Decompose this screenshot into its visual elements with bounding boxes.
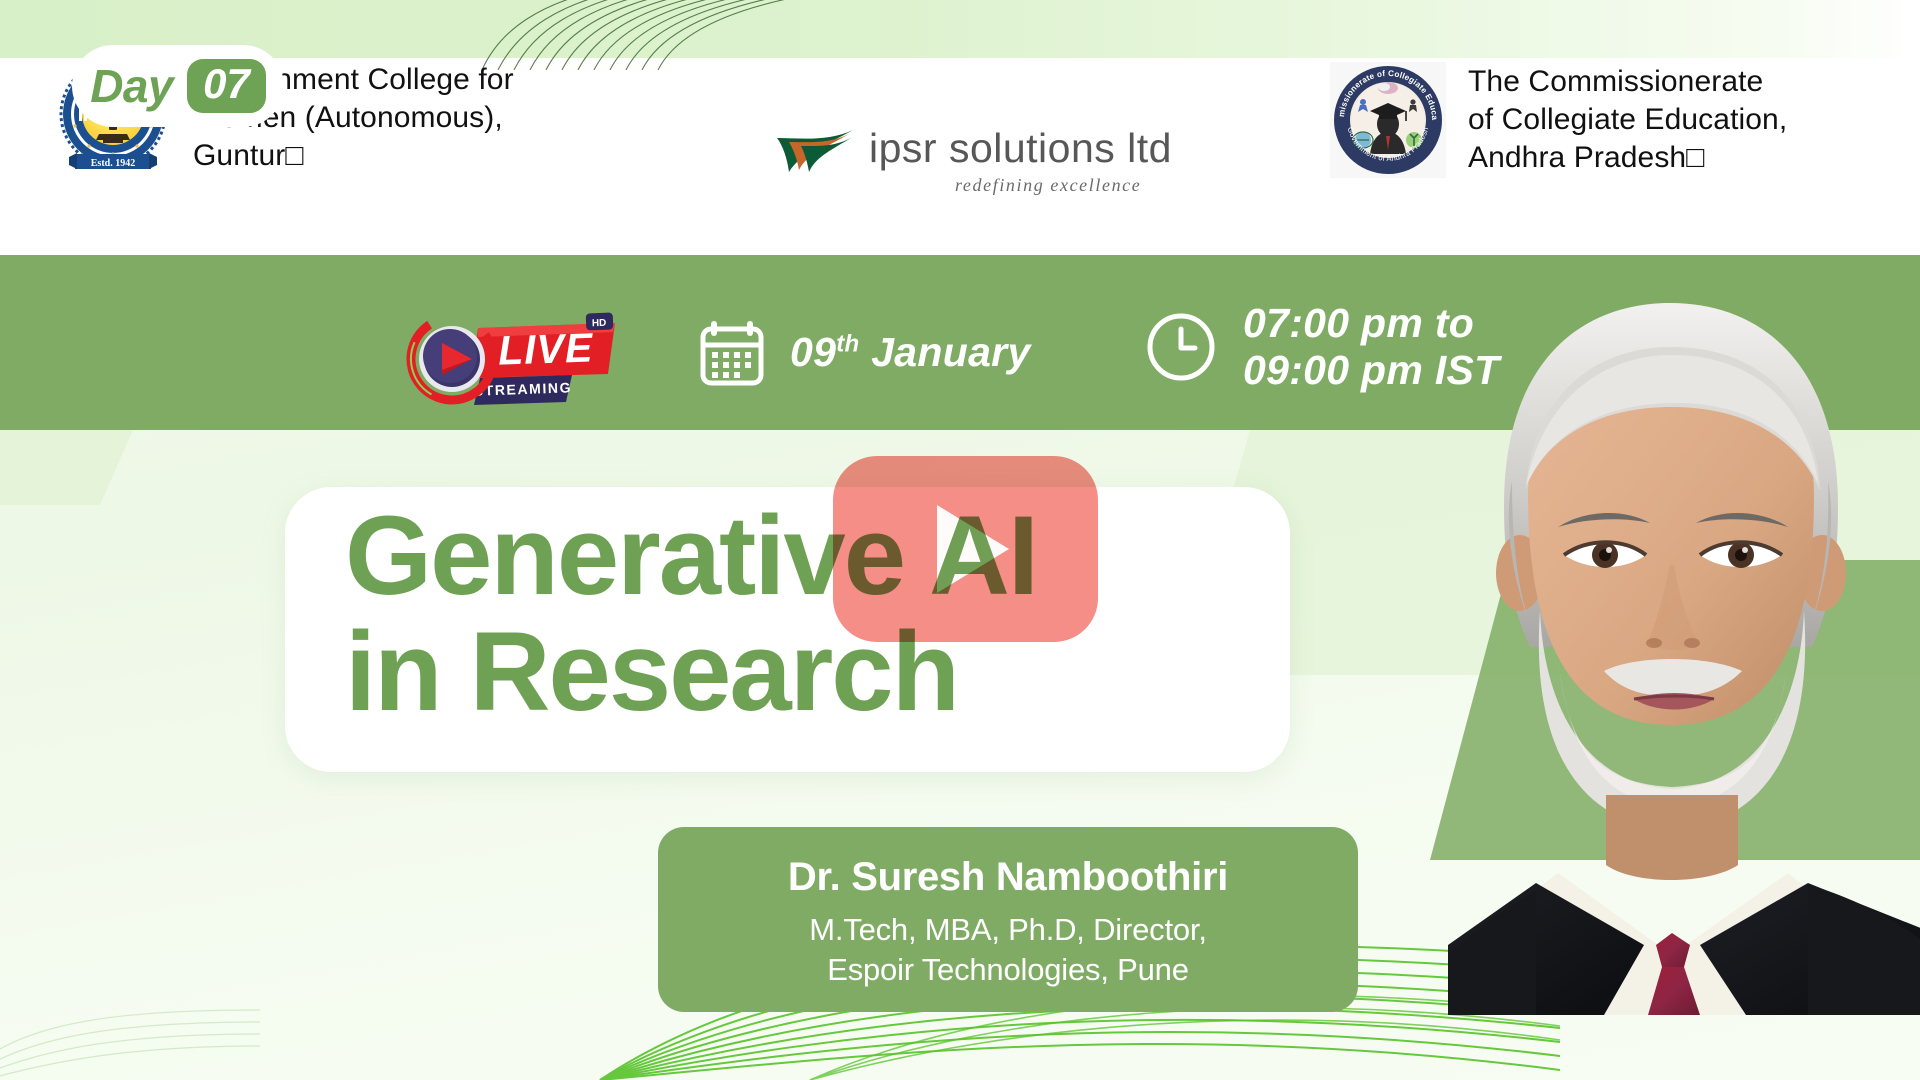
ipsr-name-label: ipsr solutions ltd: [869, 128, 1172, 169]
speaker-photo: [1350, 255, 1920, 1080]
event-date-month: January: [871, 329, 1030, 375]
live-streaming-badge: HD STREAMING LIVE: [400, 310, 630, 408]
calendar-icon: [700, 320, 764, 386]
play-button-icon[interactable]: [833, 456, 1098, 642]
cce-seal-icon: Commissionerate of Collegiate Education …: [1330, 62, 1446, 178]
event-date-suffix: th: [836, 331, 859, 358]
webinar-title: Generative AI in Research: [345, 498, 1305, 731]
day-badge: Day 07: [72, 45, 284, 127]
event-date-group: 09th January: [700, 320, 1031, 386]
day-number: 07: [187, 59, 266, 112]
event-date-label: 09th January: [790, 329, 1031, 376]
header-logo-row: Estd. 1942 Government College for Women …: [0, 40, 1920, 220]
logo-commissionerate-label: The Commissionerate of Collegiate Educat…: [1468, 63, 1787, 176]
speaker-credentials: M.Tech, MBA, Ph.D, Director, Espoir Tech…: [809, 910, 1207, 989]
live-hd-label: HD: [592, 318, 607, 329]
logo-commissionerate: Commissionerate of Collegiate Education …: [1330, 62, 1787, 178]
event-date-day: 09: [790, 329, 836, 375]
play-triangle: [937, 505, 1009, 593]
logo-ipsr-solutions: ipsr solutions ltd redefining excellence: [775, 128, 1172, 196]
ipsr-tagline-label: redefining excellence: [955, 175, 1172, 196]
live-label: LIVE: [497, 324, 594, 373]
speaker-card: Dr. Suresh Namboothiri M.Tech, MBA, Ph.D…: [658, 827, 1358, 1012]
day-label: Day: [90, 59, 173, 113]
bottom-left-curve-pattern: [0, 860, 260, 1080]
webinar-banner: Estd. 1942 Government College for Women …: [0, 0, 1920, 1080]
speaker-name: Dr. Suresh Namboothiri: [788, 855, 1228, 900]
clock-icon: [1145, 311, 1217, 383]
ipsr-swoosh-icon: [775, 128, 855, 180]
svg-text:Estd. 1942: Estd. 1942: [91, 158, 135, 169]
